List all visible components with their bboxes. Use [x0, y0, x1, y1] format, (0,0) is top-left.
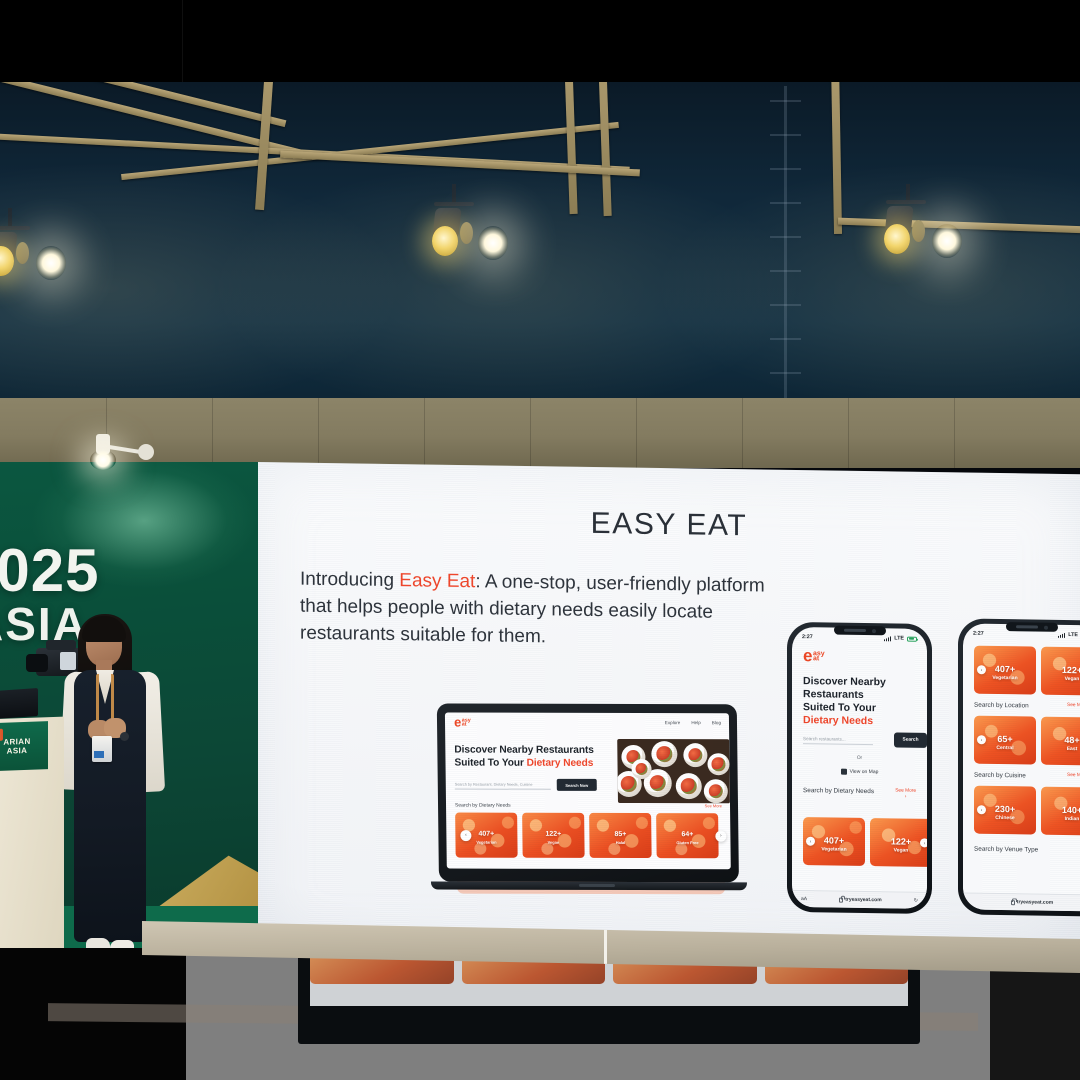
- lectern: ARIAN ASIA: [0, 717, 64, 960]
- category-card[interactable]: 122+ Vegan: [1041, 647, 1080, 696]
- web-nav: Explore Help Blog: [665, 720, 721, 725]
- top-letterbox-bar: [0, 0, 1080, 82]
- web-hero: Discover Nearby Restaurants Suited To Yo…: [454, 745, 614, 771]
- category-card[interactable]: 122+ Vegan: [522, 813, 585, 858]
- headline-line2: Restaurants: [803, 688, 864, 701]
- carousel-next-icon[interactable]: ›: [920, 838, 927, 847]
- web-section-label: Search by Dietary Needs: [455, 803, 511, 809]
- phone-section-label: Search by Cuisine: [974, 772, 1026, 780]
- logo-letter-e: e: [454, 718, 461, 729]
- nav-item-help[interactable]: Help: [691, 720, 701, 725]
- presenter-badge: [92, 736, 112, 762]
- category-label: Central: [974, 744, 1036, 751]
- category-card[interactable]: 407+ Vegetarian ‹: [803, 817, 865, 866]
- category-card[interactable]: 407+ Vegetarian ‹: [974, 646, 1036, 695]
- lock-icon: [1011, 900, 1015, 905]
- phone-search-input[interactable]: Search restaurants...: [803, 733, 873, 745]
- phone-section-see-more[interactable]: See More: [1067, 703, 1080, 708]
- carousel-next-icon[interactable]: ›: [715, 830, 726, 841]
- headline-line4-accent: Dietary Needs: [803, 714, 873, 727]
- laptop-mockup: e asy at Explore Help Blog: [437, 703, 739, 904]
- lectern-logo-line2: ASIA: [7, 746, 28, 756]
- category-card[interactable]: 65+ Central ‹: [974, 716, 1036, 765]
- slide-intro-text: Introducing Easy Eat: A one-stop, user-f…: [300, 567, 770, 655]
- phone-mockup-left: 2:27 LTE e asy at: [787, 622, 932, 914]
- logo-letter-e: e: [803, 649, 812, 663]
- easyeat-logo[interactable]: e asy at: [454, 718, 471, 729]
- status-time: 2:27: [802, 634, 813, 640]
- intro-lead: Introducing: [300, 569, 399, 591]
- text-size-icon[interactable]: aA: [801, 896, 807, 902]
- phone-category-carousel: 65+ Central ‹ 48+ East: [974, 716, 1080, 766]
- category-label: Vegetarian: [803, 846, 865, 853]
- battery-icon: [907, 636, 917, 641]
- category-label: Vegan: [870, 847, 927, 854]
- laptop-hinge-notch: [579, 884, 615, 887]
- browser-url[interactable]: tryeasyeat.com: [1011, 899, 1053, 906]
- lock-icon: [839, 897, 843, 902]
- category-count: 85+: [589, 831, 651, 838]
- web-search-button[interactable]: Search Now: [557, 779, 597, 791]
- nav-item-blog[interactable]: Blog: [712, 720, 721, 725]
- reload-icon[interactable]: ↻: [914, 898, 918, 904]
- phone-notch: [834, 626, 886, 636]
- wall-mounted-lamp: [92, 432, 152, 466]
- web-search-input[interactable]: Search by Restaurant, Dietary Needs, Cui…: [455, 780, 551, 790]
- led-presentation-screen: EASY EAT Introducing Easy Eat: A one-sto…: [258, 462, 1080, 962]
- phone-section-label: Search by Dietary Needs: [803, 787, 879, 796]
- category-count: 140+: [1041, 805, 1080, 816]
- intro-brand: Easy Eat: [399, 570, 475, 592]
- phone-section-see-more[interactable]: See More: [1067, 773, 1080, 778]
- web-search-row: Search by Restaurant, Dietary Needs, Cui…: [455, 779, 597, 791]
- hero-line2-accent: Dietary Needs: [527, 758, 594, 769]
- logo-line-at: at: [462, 723, 471, 727]
- category-label: Gluten Free: [656, 840, 718, 845]
- signal-icon: [884, 636, 892, 641]
- logo-line-at: at: [813, 656, 825, 662]
- web-section-see-more[interactable]: See More: [705, 803, 722, 808]
- see-more-arrow-icon: ›: [905, 795, 907, 800]
- browser-url[interactable]: tryeasyeat.com: [839, 897, 881, 904]
- phone-notch: [1006, 622, 1058, 632]
- web-category-carousel: 407+ Vegetarian 122+ Vegan 85+ Halal: [455, 813, 731, 859]
- carousel-prev-icon[interactable]: ‹: [806, 837, 815, 846]
- lectern-logo: ARIAN ASIA: [0, 721, 48, 771]
- view-on-map-label: View on Map: [850, 769, 879, 775]
- web-header: e asy at Explore Help Blog: [445, 713, 729, 736]
- phone-search-row: Search restaurants... Search: [803, 731, 927, 748]
- signal-icon: [1058, 632, 1066, 637]
- phone-headline: Discover Nearby Restaurants Suited To Yo…: [803, 675, 915, 729]
- lectern-logo-icon: [0, 729, 3, 742]
- laptop-bezel: e asy at Explore Help Blog: [437, 703, 739, 882]
- phone-search-button[interactable]: Search: [894, 732, 927, 747]
- category-count: 64+: [656, 831, 718, 838]
- category-label: East: [1041, 745, 1080, 752]
- hero-line2-prefix: Suited To Your: [454, 757, 526, 768]
- headline-line3: Suited To Your: [803, 701, 876, 714]
- hero-line1: Discover Nearby Restaurants: [454, 745, 594, 756]
- category-card[interactable]: 64+ Gluten Free: [656, 813, 719, 858]
- category-label: Vegan: [522, 840, 584, 845]
- category-label: Halal: [589, 840, 651, 845]
- category-card[interactable]: 230+ Chinese ‹: [974, 786, 1036, 835]
- status-network: LTE: [1068, 632, 1078, 638]
- carousel-prev-icon[interactable]: ‹: [977, 735, 986, 744]
- phone-browser-bar: tryeasyeat.com: [963, 892, 1080, 911]
- category-card[interactable]: 85+ Halal: [589, 813, 652, 858]
- phone-category-carousel: 407+ Vegetarian ‹ 122+ Vegan: [974, 646, 1080, 696]
- category-label: Chinese: [974, 814, 1036, 821]
- slide-title: EASY EAT: [258, 502, 1080, 548]
- phone-category-carousel: 407+ Vegetarian ‹ 122+ Vegan ›: [803, 817, 927, 867]
- category-count: 48+: [1041, 735, 1080, 746]
- phone-section-see-more[interactable]: See More›: [895, 788, 916, 801]
- category-count: 122+: [870, 836, 927, 847]
- map-icon: [841, 769, 847, 775]
- category-card[interactable]: 122+ Vegan ›: [870, 818, 927, 867]
- headline-line1: Discover Nearby: [803, 675, 886, 688]
- presenter-person: [52, 608, 180, 958]
- hero-food-photo: [617, 739, 730, 803]
- phone-mockup-right: 2:27 LTE 407+ Vegetarian ‹: [958, 618, 1080, 916]
- status-time: 2:27: [973, 631, 984, 637]
- phone-section-label: Search by Location: [974, 702, 1029, 710]
- category-label: Vegan: [1041, 675, 1080, 682]
- easyeat-logo[interactable]: e asy at: [803, 649, 825, 663]
- category-label: Indian: [1041, 815, 1080, 822]
- laptop-screen: e asy at Explore Help Blog: [445, 713, 731, 870]
- category-card[interactable]: 48+ East: [1041, 717, 1080, 766]
- category-card[interactable]: 140+ Indian: [1041, 787, 1080, 836]
- category-count: 122+: [522, 831, 584, 838]
- conference-stage-photo: 2025 ASIA ARIAN ASIA: [0, 0, 1080, 1080]
- phone-or-label: Or: [792, 755, 927, 762]
- carousel-prev-icon[interactable]: ‹: [460, 830, 471, 841]
- backdrop-year: 2025: [0, 536, 99, 605]
- nav-item-explore[interactable]: Explore: [665, 720, 681, 725]
- category-label: Vegetarian: [974, 674, 1036, 681]
- phone-browser-bar: aA tryeasyeat.com ↻: [792, 890, 927, 909]
- phone-screen-left: 2:27 LTE e asy at: [792, 627, 927, 909]
- carousel-prev-icon[interactable]: ‹: [977, 805, 986, 814]
- carousel-prev-icon[interactable]: ‹: [977, 665, 986, 674]
- phone-category-carousel: 230+ Chinese ‹ 140+ Indian: [974, 786, 1080, 836]
- wall-panel-band: [0, 398, 1080, 468]
- category-count: 122+: [1041, 665, 1080, 676]
- presenter-laptop: [0, 688, 38, 720]
- phone-view-on-map[interactable]: View on Map: [792, 768, 927, 776]
- phone-screen-right: 2:27 LTE 407+ Vegetarian ‹: [963, 623, 1080, 911]
- phone-section-label: Search by Venue Type: [974, 846, 1038, 854]
- status-network: LTE: [894, 635, 904, 641]
- ceiling-ladder: [784, 86, 787, 406]
